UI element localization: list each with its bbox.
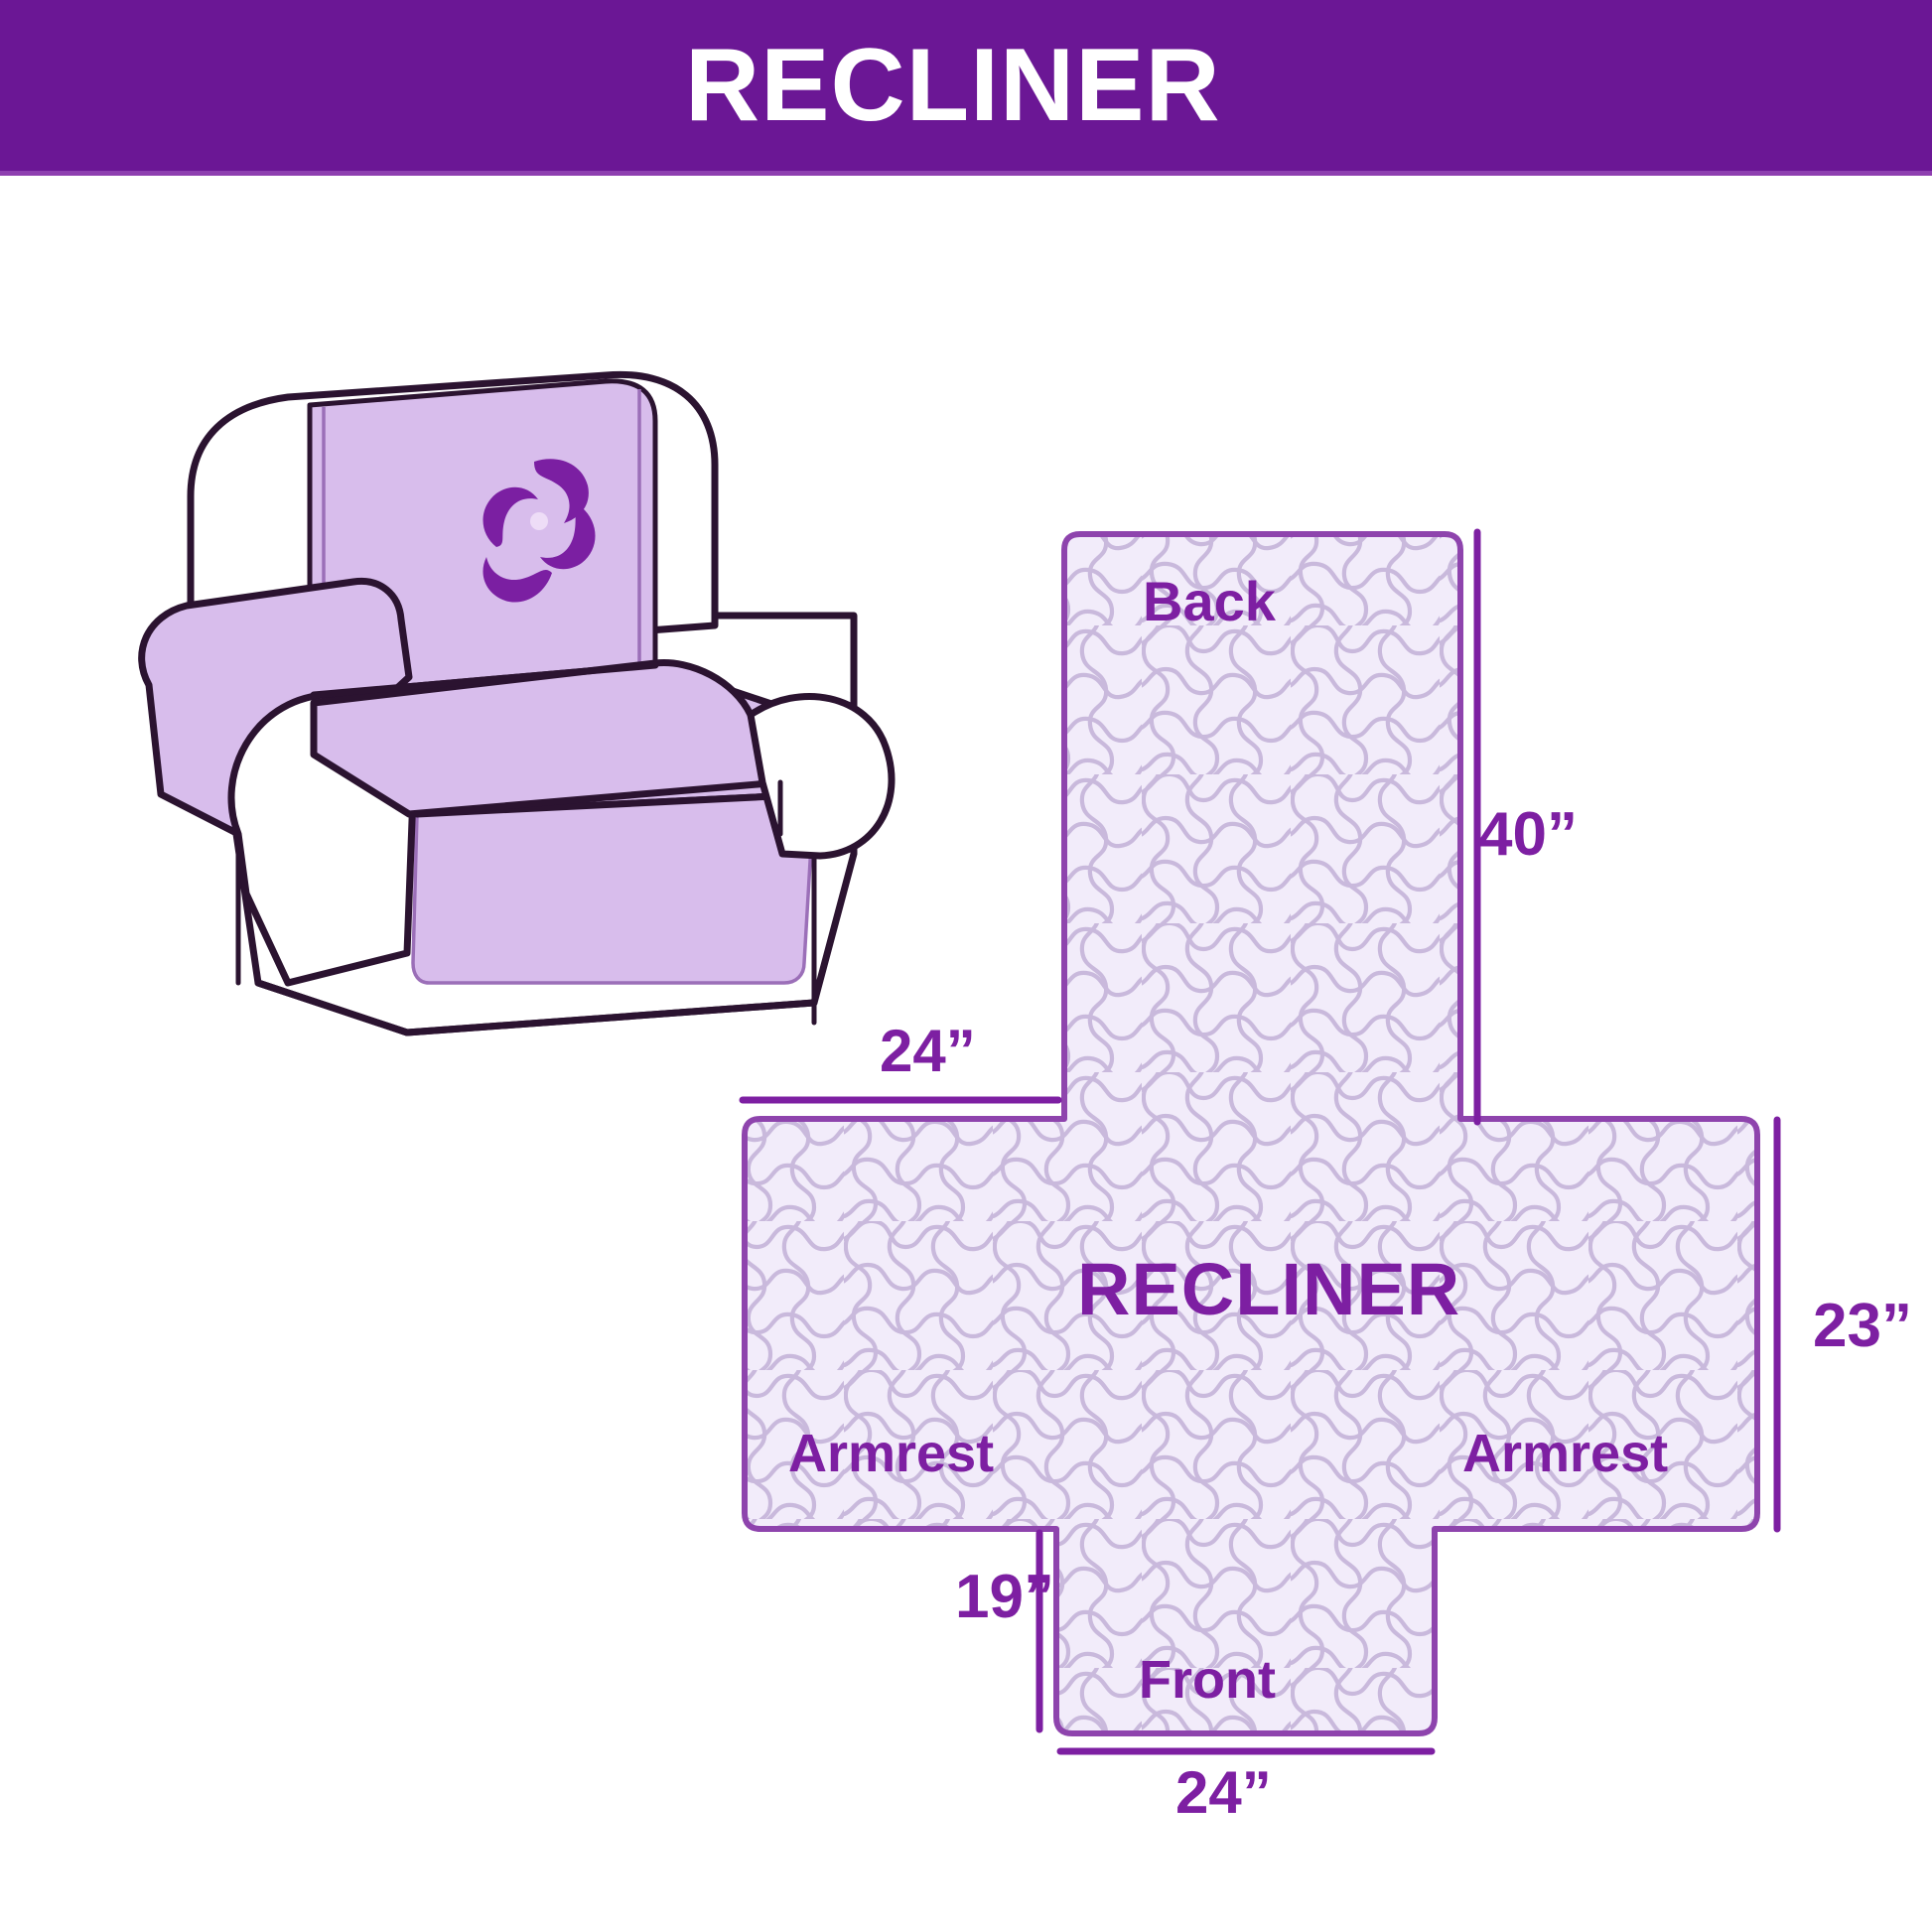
header-banner: RECLINER xyxy=(0,0,1932,171)
pattern-center-label: RECLINER xyxy=(1077,1253,1460,1326)
dimension-label-40in: 40” xyxy=(1478,804,1578,866)
dimension-label-24in-bottom: 24” xyxy=(1175,1763,1272,1823)
dimension-label-19in: 19” xyxy=(955,1567,1054,1628)
label-front: Front xyxy=(1139,1653,1276,1707)
cover-cross-outline xyxy=(745,534,1757,1733)
dimension-label-23in: 23” xyxy=(1813,1296,1912,1357)
label-back: Back xyxy=(1143,574,1276,629)
dimension-label-24in-top: 24” xyxy=(880,1022,976,1081)
label-armrest-left: Armrest xyxy=(788,1427,994,1480)
label-armrest-right: Armrest xyxy=(1462,1427,1668,1480)
cover-pattern-diagram xyxy=(695,477,1916,1886)
product-size-chart-page: RECLINER .ol { fill:none; stroke:#2B1330… xyxy=(0,0,1932,1932)
header-underline xyxy=(0,171,1932,176)
page-title: RECLINER xyxy=(685,34,1221,137)
